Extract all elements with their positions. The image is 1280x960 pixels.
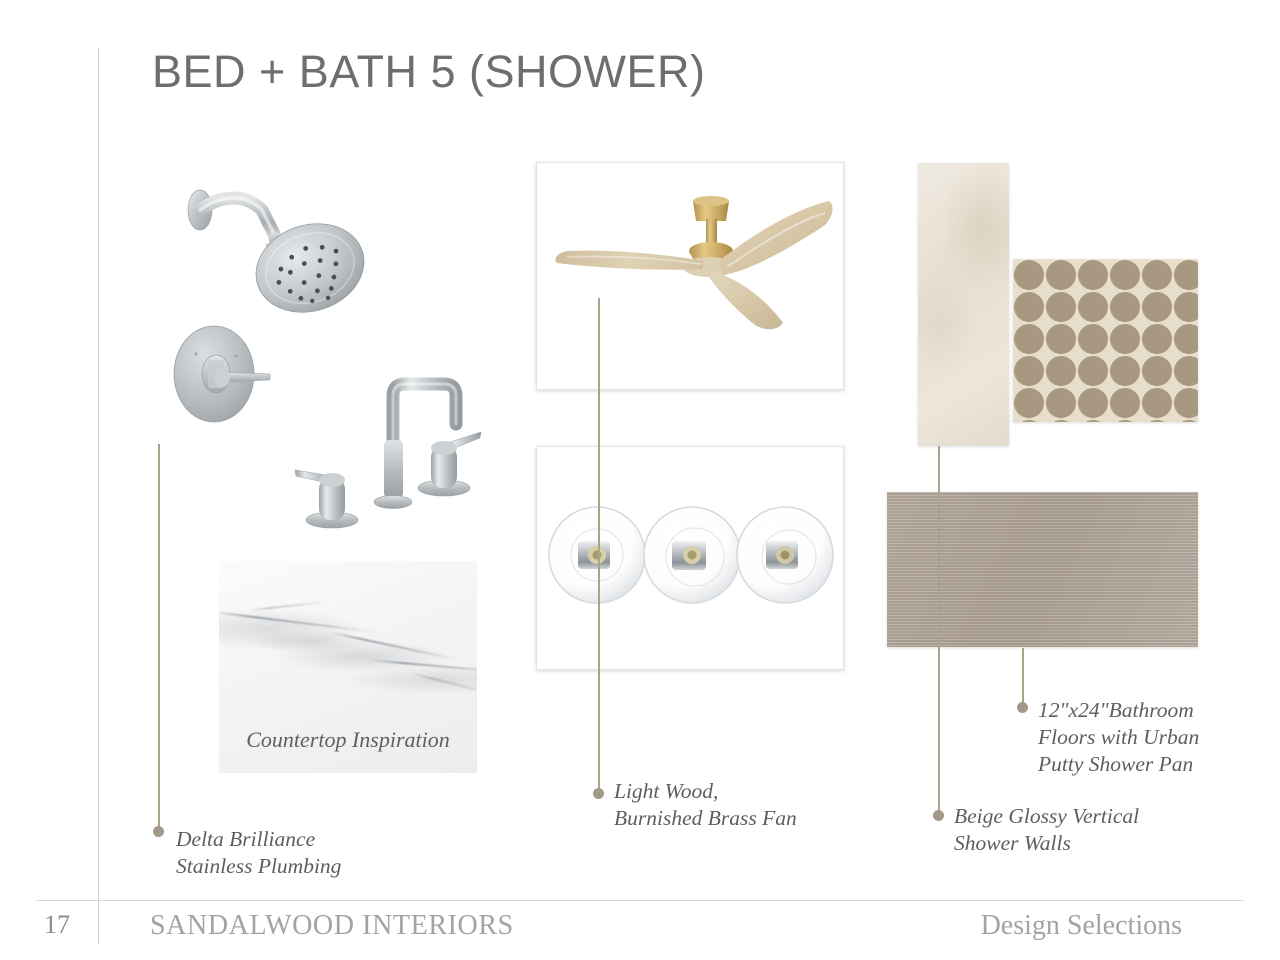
footer-section-label: Design Selections — [981, 910, 1182, 942]
leader-line-shower-walls — [938, 446, 940, 814]
ceiling-fan-photo — [536, 162, 844, 390]
widespread-faucet-image — [292, 362, 492, 540]
left-vertical-divider — [98, 48, 99, 944]
countertop-marble-swatch: Countertop Inspiration — [219, 561, 477, 773]
mood-board-slide: BED + BATH 5 (SHOWER) — [0, 0, 1280, 960]
caption-floor-tile: 12"x24"Bathroom Floors with Urban Putty … — [1038, 697, 1199, 778]
footer-page-number: 17 — [44, 910, 70, 940]
leader-dot-shower-walls — [933, 810, 944, 821]
leader-line-fan — [598, 298, 600, 792]
page-title: BED + BATH 5 (SHOWER) — [152, 46, 706, 98]
leader-dot-floor-tile — [1017, 702, 1028, 713]
showerhead-image — [170, 168, 366, 318]
caption-plumbing: Delta Brilliance Stainless Plumbing — [176, 826, 341, 880]
countertop-inspiration-label: Countertop Inspiration — [219, 727, 477, 753]
greige-floor-tile-swatch — [887, 492, 1198, 647]
caption-fan: Light Wood, Burnished Brass Fan — [614, 778, 797, 832]
leader-line-floor-tile — [1022, 648, 1024, 706]
penny-round-mosaic-swatch — [1013, 259, 1198, 422]
footer-divider — [36, 900, 1244, 901]
footer-brand: SANDALWOOD INTERIORS — [150, 910, 514, 942]
leader-line-plumbing — [158, 444, 160, 830]
leader-dot-plumbing — [153, 826, 164, 837]
leader-dot-fan — [593, 788, 604, 799]
beige-vertical-wall-tile-swatch — [918, 163, 1009, 446]
caption-shower-walls: Beige Glossy Vertical Shower Walls — [954, 803, 1139, 857]
shower-valve-trim-image — [166, 316, 286, 436]
vanity-light-photo — [536, 446, 844, 670]
